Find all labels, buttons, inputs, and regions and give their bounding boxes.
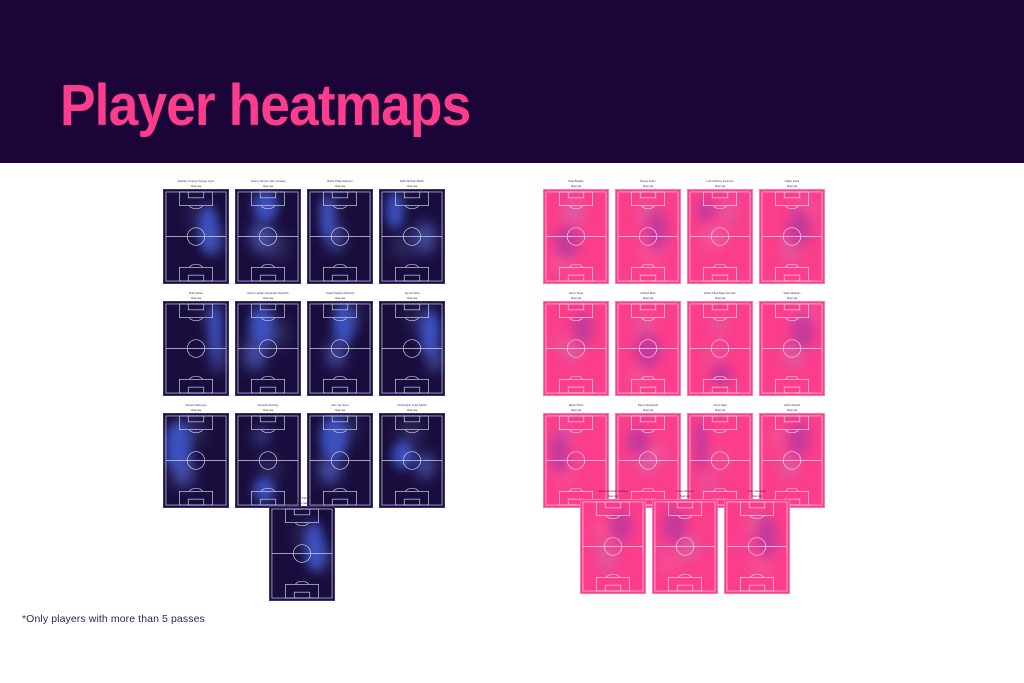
player-heatmap-cell[interactable]: Max CampbellHeat map (724, 490, 790, 594)
heatmap-subtitle-label: Heat map (571, 185, 581, 188)
away-team-heatmap-extra-row: Ahmed Dukadin MackeeHeat map Ca'ron Dick… (580, 490, 800, 602)
pitch-markings (688, 190, 752, 283)
football-pitch-heatmap[interactable] (269, 506, 335, 601)
player-name-label: Silas Adebayo (756, 292, 828, 295)
pitch-markings (380, 414, 444, 507)
player-heatmap-cell[interactable]: Jay Da SilvaHeat map (379, 292, 445, 396)
football-pitch-heatmap[interactable] (307, 189, 373, 284)
heatmap-subtitle-label: Heat map (407, 185, 417, 188)
player-name-label: Tariq Bradley (540, 180, 612, 183)
football-pitch-heatmap[interactable] (580, 499, 646, 594)
heatmap-board: Zachary Ompop Onyogo UyonHeat map Tommy … (0, 163, 1024, 683)
heatmap-subtitle-label: Heat map (335, 409, 345, 412)
football-pitch-heatmap[interactable] (543, 189, 609, 284)
pitch-markings (164, 190, 228, 283)
heatmap-subtitle-label: Heat map (643, 409, 653, 412)
pitch-markings (725, 500, 789, 593)
player-name-label: Ca'ron Dickens (649, 490, 721, 493)
heatmap-subtitle-label: Heat map (571, 409, 581, 412)
player-name-label: Ethan Shea Beau Horvath (684, 292, 756, 295)
player-heatmap-cell[interactable]: Christopher Hugh MartinHeat map (379, 404, 445, 508)
player-name-label: Joseph Matteo Pelhorto (304, 292, 376, 295)
player-heatmap-cell[interactable]: Reece FullerHeat map (615, 180, 681, 284)
pitch-markings (544, 302, 608, 395)
football-pitch-heatmap[interactable] (163, 189, 229, 284)
heatmap-subtitle-label: Heat map (191, 297, 201, 300)
player-name-label: Andreas Palmeiro (266, 497, 338, 500)
football-pitch-heatmap[interactable] (379, 413, 445, 508)
heatmap-subtitle-label: Heat map (608, 495, 618, 498)
heatmap-subtitle-label: Heat map (787, 185, 797, 188)
pitch-markings (236, 302, 300, 395)
player-heatmap-cell[interactable]: Alex Jay ScottHeat map (307, 404, 373, 508)
heatmap-subtitle-label: Heat map (752, 495, 762, 498)
pitch-markings (236, 190, 300, 283)
football-pitch-heatmap[interactable] (724, 499, 790, 594)
pitch-markings (653, 500, 717, 593)
player-name-label: Kelvin Lachlan Alexander Naismith (232, 292, 304, 295)
player-name-label: Newton Mazengo (160, 404, 232, 407)
player-name-label: Daniel Potts (540, 404, 612, 407)
player-name-label: Jaden Clark (756, 180, 828, 183)
football-pitch-heatmap[interactable] (379, 189, 445, 284)
football-pitch-heatmap[interactable] (652, 499, 718, 594)
pitch-markings (380, 190, 444, 283)
pitch-markings (308, 414, 372, 507)
player-heatmap-cell[interactable]: Tommy Sunset John ConwayHeat map (235, 180, 301, 284)
pitch-markings (308, 302, 372, 395)
away-team-heatmap-grid: Tariq BradleyHeat map Reece FullerHeat m… (543, 180, 833, 516)
heatmap-subtitle-label: Heat map (680, 495, 690, 498)
pitch-markings (164, 414, 228, 507)
heatmap-subtitle-label: Heat map (715, 185, 725, 188)
pitch-markings (760, 190, 824, 283)
football-pitch-heatmap[interactable] (687, 301, 753, 396)
player-name-label: Demetrio Dentley (232, 404, 304, 407)
football-pitch-heatmap[interactable] (379, 301, 445, 396)
pitch-markings (544, 190, 608, 283)
player-heatmap-cell[interactable]: Kelvin Lachlan Alexander NaismithHeat ma… (235, 292, 301, 396)
pitch-markings (164, 302, 228, 395)
heatmap-subtitle-label: Heat map (571, 297, 581, 300)
player-heatmap-cell[interactable]: Zachary Ompop Onyogo UyonHeat map (163, 180, 229, 284)
player-heatmap-cell[interactable]: Jaime ShawHeat map (543, 292, 609, 396)
player-name-label: Tommy Sunset John Conway (232, 180, 304, 183)
player-heatmap-cell[interactable]: Rafin Mohsen BarthHeat map (379, 180, 445, 284)
heatmap-subtitle-label: Heat map (191, 185, 201, 188)
football-pitch-heatmap[interactable] (687, 189, 753, 284)
football-pitch-heatmap[interactable] (543, 301, 609, 396)
football-pitch-heatmap[interactable] (163, 301, 229, 396)
heatmap-subtitle-label: Heat map (787, 297, 797, 300)
heatmap-subtitle-label: Heat map (715, 409, 725, 412)
player-heatmap-cell[interactable]: Ethan Shea Beau HorvathHeat map (687, 292, 753, 396)
heatmap-subtitle-label: Heat map (407, 409, 417, 412)
heatmap-subtitle-label: Heat map (335, 297, 345, 300)
heatmap-subtitle-label: Heat map (263, 409, 273, 412)
football-pitch-heatmap[interactable] (235, 413, 301, 508)
pitch-markings (688, 302, 752, 395)
football-pitch-heatmap[interactable] (759, 301, 825, 396)
pitch-markings (380, 302, 444, 395)
player-name-label: Ahmed Dukadin Mackee (577, 490, 649, 493)
player-heatmap-cell[interactable]: Andreas PalmeiroHeat map (269, 497, 335, 601)
football-pitch-heatmap[interactable] (235, 189, 301, 284)
header-banner: Player heatmaps (0, 0, 1024, 163)
player-name-label: Jaime Shaw (540, 292, 612, 295)
football-pitch-heatmap[interactable] (307, 413, 373, 508)
heatmap-subtitle-label: Heat map (407, 297, 417, 300)
football-pitch-heatmap[interactable] (235, 301, 301, 396)
player-heatmap-cell[interactable]: Rabin Philip AtkinsonHeat map (307, 180, 373, 284)
player-heatmap-cell[interactable]: Joseph Matteo PelhortoHeat map (307, 292, 373, 396)
heatmap-subtitle-label: Heat map (263, 185, 273, 188)
page-title: Player heatmaps (60, 76, 470, 136)
player-name-label: Ruth Sykes (160, 292, 232, 295)
player-name-label: Luis Anthony Freeman (684, 180, 756, 183)
heatmap-subtitle-label: Heat map (191, 409, 201, 412)
heatmap-subtitle-label: Heat map (715, 297, 725, 300)
player-name-label: Alex Jay Scott (304, 404, 376, 407)
pitch-markings (270, 507, 334, 600)
pitch-markings (760, 302, 824, 395)
player-heatmap-cell[interactable]: Ca'ron DickensHeat map (652, 490, 718, 594)
player-heatmap-cell[interactable]: Newton MazengoHeat map (163, 404, 229, 508)
player-name-label: Gabriel Elvis (612, 292, 684, 295)
player-heatmap-cell[interactable]: Gabriel ElvisHeat map (615, 292, 681, 396)
player-heatmap-cell[interactable]: Ruth SykesHeat map (163, 292, 229, 396)
home-team-heatmap-extra-row: Andreas PalmeiroHeat map (269, 497, 341, 609)
heatmap-subtitle-label: Heat map (297, 502, 307, 505)
football-pitch-heatmap[interactable] (307, 301, 373, 396)
player-name-label: Zachary Ompop Onyogo Uyon (160, 180, 232, 183)
pitch-markings (616, 190, 680, 283)
player-heatmap-cell[interactable]: Tariq BradleyHeat map (543, 180, 609, 284)
heatmap-subtitle-label: Heat map (335, 185, 345, 188)
pitch-markings (236, 414, 300, 507)
player-name-label: Rafin Mohsen Barth (376, 180, 448, 183)
football-pitch-heatmap[interactable] (163, 413, 229, 508)
player-name-label: Danny Rowlands (612, 404, 684, 407)
heatmap-subtitle-label: Heat map (643, 297, 653, 300)
pitch-markings (308, 190, 372, 283)
player-name-label: Reece Fuller (612, 180, 684, 183)
football-pitch-heatmap[interactable] (615, 301, 681, 396)
footnote-text: *Only players with more than 5 passes (22, 613, 205, 625)
pitch-markings (616, 302, 680, 395)
heatmap-subtitle-label: Heat map (787, 409, 797, 412)
player-name-label: Jay Da Silva (376, 292, 448, 295)
player-heatmap-cell[interactable]: Ahmed Dukadin MackeeHeat map (580, 490, 646, 594)
player-heatmap-cell[interactable]: Demetrio DentleyHeat map (235, 404, 301, 508)
player-name-label: Christopher Hugh Martin (376, 404, 448, 407)
home-team-heatmap-grid: Zachary Ompop Onyogo UyonHeat map Tommy … (163, 180, 453, 516)
football-pitch-heatmap[interactable] (615, 189, 681, 284)
heatmap-subtitle-label: Heat map (643, 185, 653, 188)
pitch-markings (581, 500, 645, 593)
heatmap-subtitle-label: Heat map (263, 297, 273, 300)
player-heatmap-cell[interactable]: Silas AdebayoHeat map (759, 292, 825, 396)
player-name-label: Colton Monds (756, 404, 828, 407)
player-name-label: Rabin Philip Atkinson (304, 180, 376, 183)
player-name-label: Max Campbell (721, 490, 793, 493)
player-name-label: Amari Said (684, 404, 756, 407)
player-heatmap-cell[interactable]: Luis Anthony FreemanHeat map (687, 180, 753, 284)
football-pitch-heatmap[interactable] (759, 189, 825, 284)
player-heatmap-cell[interactable]: Jaden ClarkHeat map (759, 180, 825, 284)
